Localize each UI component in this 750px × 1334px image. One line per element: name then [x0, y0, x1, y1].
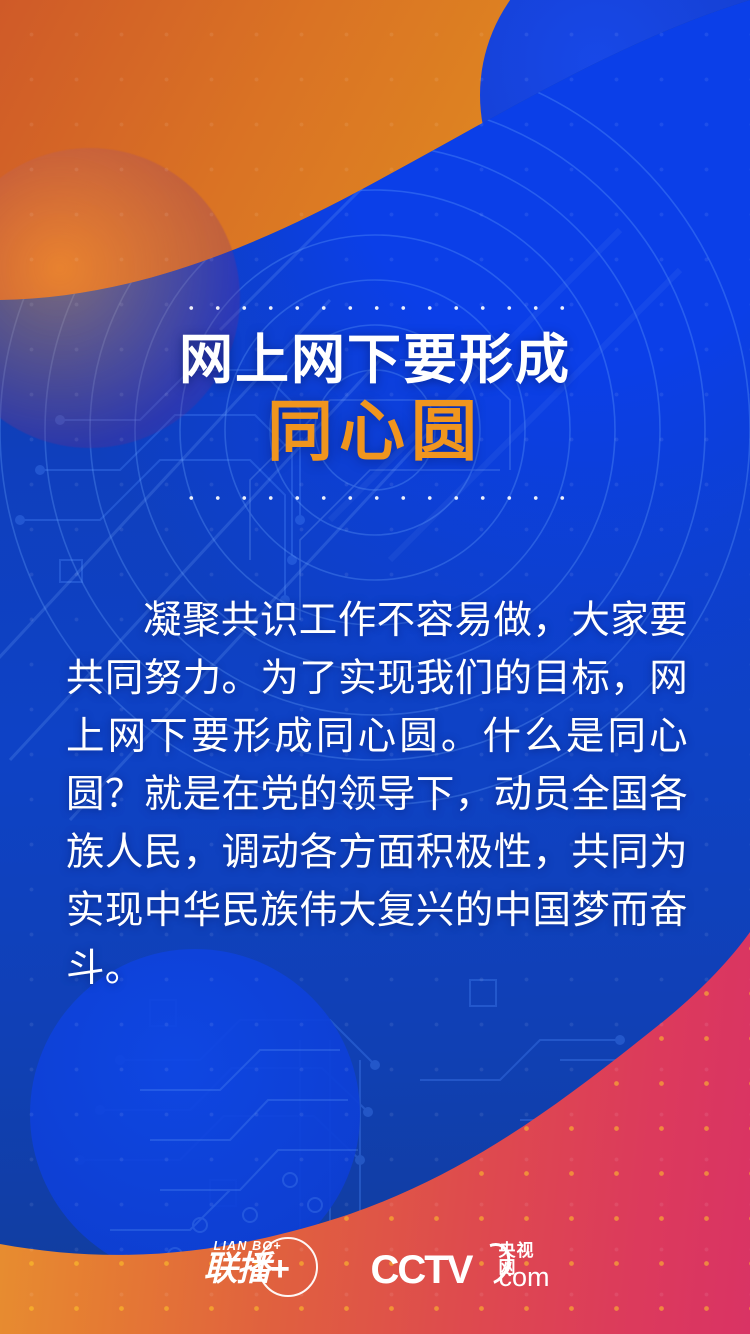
divider-dotted-top [178, 305, 572, 311]
poster-canvas: 网上网下要形成 同心圆 凝聚共识工作不容易做，大家要共同努力。为了实现我们的目标… [0, 0, 750, 1334]
body-copy: 凝聚共识工作不容易做，大家要共同努力。为了实现我们的目标，网上网下要形成同心圆。… [66, 592, 688, 998]
cctv-com-logo[interactable]: CCTV 央视网 com [371, 1240, 549, 1298]
poster-content: 网上网下要形成 同心圆 凝聚共识工作不容易做，大家要共同努力。为了实现我们的目标… [0, 0, 750, 1334]
page-title: 网上网下要形成 同心圆 [0, 332, 750, 469]
cctv-wordmark: CCTV [371, 1250, 472, 1290]
body-paragraph: 凝聚共识工作不容易做，大家要共同努力。为了实现我们的目标，网上网下要形成同心圆。… [66, 592, 688, 998]
lianbo-plus-logo[interactable]: LIAN BO+ 联播+ [202, 1238, 318, 1300]
headline-line-2-accent: 同心圆 [0, 395, 750, 469]
headline-line-1: 网上网下要形成 [0, 332, 750, 389]
footer-logo-bar: LIAN BO+ 联播+ CCTV 央视网 com [0, 1224, 750, 1314]
cctv-com-text: com [499, 1264, 550, 1291]
divider-dotted-bottom [178, 495, 572, 501]
lianbo-chinese-text: 联播+ [204, 1252, 289, 1286]
